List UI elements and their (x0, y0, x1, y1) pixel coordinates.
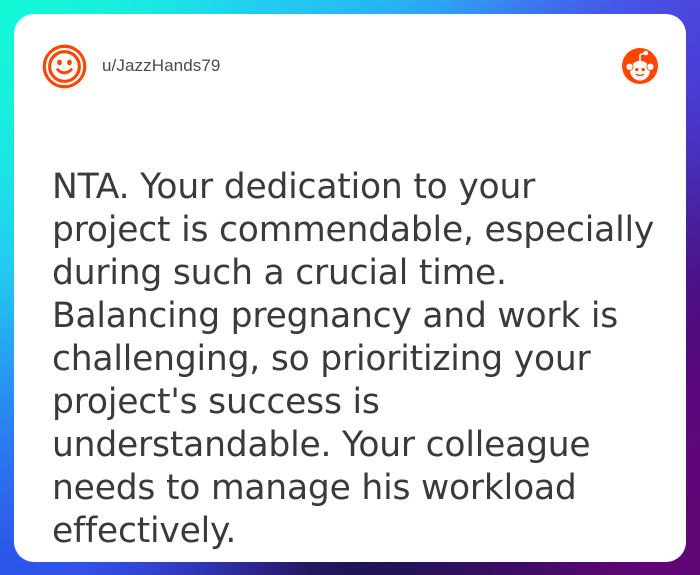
screenshot-root: u/JazzHands79 NTA. Your dedication to yo… (0, 0, 700, 575)
username-label[interactable]: u/JazzHands79 (102, 56, 220, 76)
post-body: NTA. Your dedication to your project is … (52, 166, 656, 553)
post-header: u/JazzHands79 (42, 40, 658, 92)
post-text: NTA. Your dedication to your project is … (52, 166, 656, 553)
reddit-snoo-icon[interactable] (622, 48, 658, 84)
smiley-face-icon[interactable] (42, 44, 87, 89)
reddit-post-card: u/JazzHands79 NTA. Your dedication to yo… (14, 14, 686, 562)
